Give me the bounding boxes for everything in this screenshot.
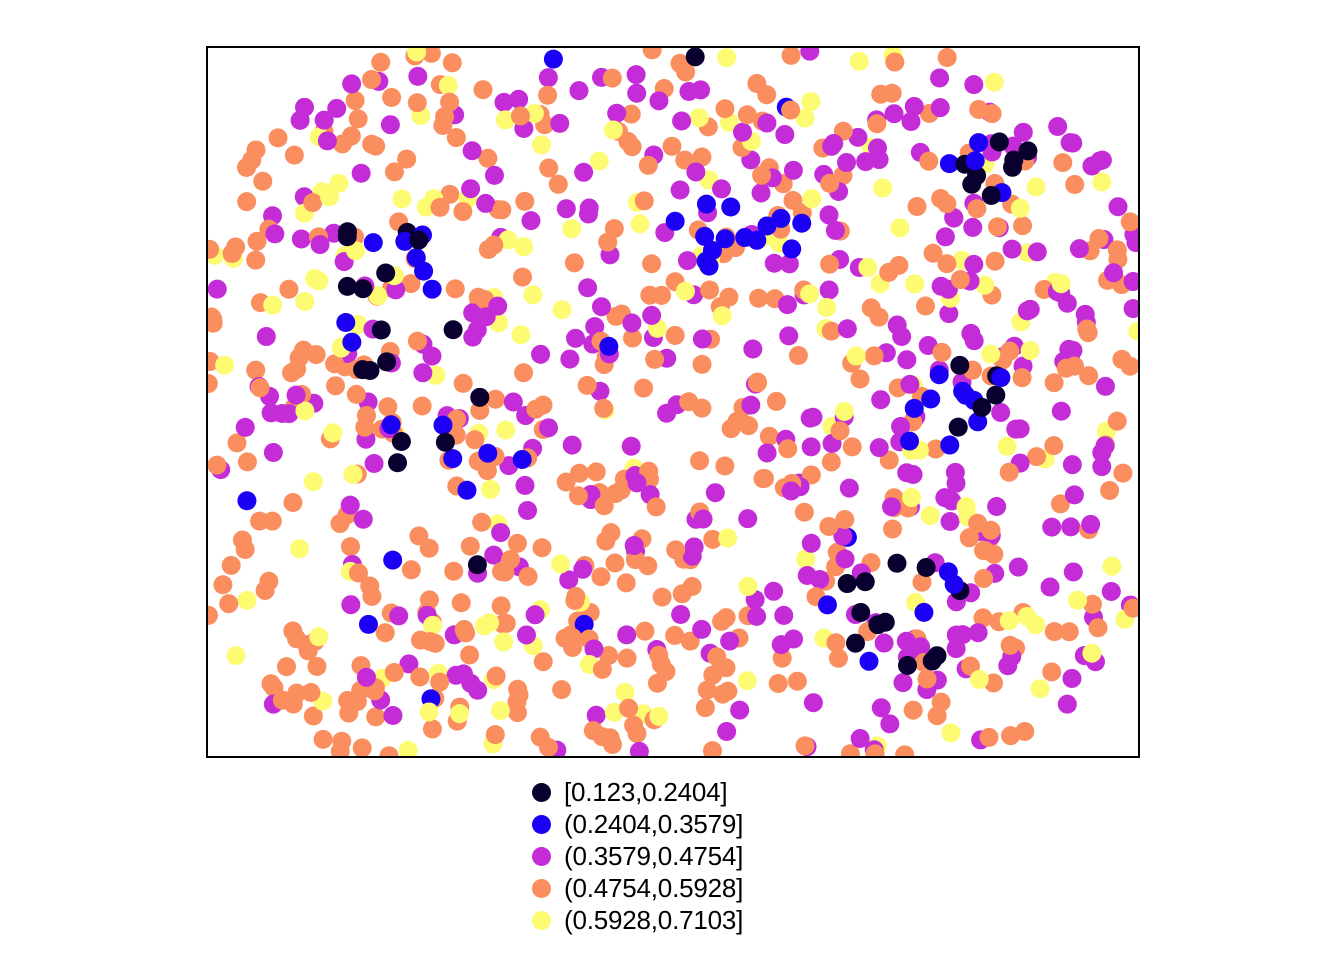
scatter-point	[818, 595, 837, 614]
scatter-point	[607, 104, 626, 123]
scatter-point	[721, 198, 740, 217]
scatter-point	[679, 392, 698, 411]
scatter-point	[918, 670, 937, 689]
legend-row[interactable]: (0.5928,0.7103]	[518, 904, 743, 936]
scatter-point	[617, 573, 636, 592]
scatter-point	[538, 86, 557, 105]
scatter-point	[692, 355, 711, 374]
scatter-point	[1089, 618, 1108, 637]
scatter-point	[484, 236, 503, 255]
scatter-point	[481, 480, 500, 499]
scatter-point	[829, 649, 848, 668]
scatter-point	[411, 631, 430, 650]
scatter-point	[357, 406, 376, 425]
scatter-point	[1068, 591, 1087, 610]
scatter-point	[348, 692, 367, 711]
scatter-point	[1065, 357, 1084, 376]
scatter-point	[423, 720, 442, 739]
scatter-point	[330, 514, 349, 533]
legend-swatch-bin-5	[518, 911, 564, 930]
scatter-point	[956, 386, 975, 405]
scatter-point	[642, 254, 661, 273]
scatter-point	[712, 179, 731, 198]
scatter-point	[947, 626, 966, 645]
scatter-point	[717, 48, 736, 67]
scatter-point	[919, 152, 938, 171]
scatter-point	[900, 432, 919, 451]
scatter-point	[904, 701, 923, 720]
scatter-point	[747, 607, 766, 626]
scatter-point	[388, 453, 407, 472]
scatter-point	[573, 560, 592, 579]
scatter-point	[988, 217, 1007, 236]
scatter-point	[1061, 133, 1080, 152]
scatter-point	[601, 728, 620, 747]
scatter-point	[846, 634, 865, 653]
legend-swatch-bin-4	[518, 879, 564, 898]
scatter-point	[974, 569, 993, 588]
scatter-point	[875, 634, 894, 653]
scatter-point	[380, 746, 399, 756]
scatter-point	[686, 162, 705, 181]
scatter-point	[362, 70, 381, 89]
plot-panel	[206, 46, 1140, 758]
scatter-point	[928, 646, 947, 665]
scatter-point	[457, 481, 476, 500]
scatter-point	[513, 268, 532, 287]
scatter-point	[531, 345, 550, 364]
scatter-point	[376, 623, 395, 642]
scatter-point	[985, 73, 1004, 92]
scatter-point	[468, 555, 487, 574]
scatter-point	[392, 432, 411, 451]
scatter-point	[795, 503, 814, 522]
scatter-point	[1064, 562, 1083, 581]
scatter-point	[630, 214, 649, 233]
scatter-point	[835, 402, 854, 421]
scatter-point	[665, 626, 684, 645]
scatter-point	[1045, 373, 1064, 392]
scatter-point	[843, 437, 862, 456]
scatter-point	[690, 108, 709, 127]
scatter-point	[354, 510, 373, 529]
scatter-point	[208, 374, 218, 393]
legend-swatch-bin-1	[518, 783, 564, 802]
scatter-point	[1027, 447, 1046, 466]
scatter-point	[700, 281, 719, 300]
scatter-point	[905, 274, 924, 293]
scatter-point	[323, 423, 342, 442]
scatter-point	[349, 109, 368, 128]
scatter-point	[453, 202, 472, 221]
scatter-point	[939, 562, 958, 581]
scatter-point	[213, 575, 232, 594]
scatter-point	[1062, 669, 1081, 688]
scatter-point	[566, 587, 585, 606]
scatter-point	[897, 350, 916, 369]
scatter-point	[1031, 679, 1050, 698]
scatter-point	[720, 632, 739, 651]
scatter-point	[284, 695, 303, 714]
scatter-point	[760, 427, 779, 446]
scatter-point	[1108, 412, 1127, 431]
scatter-point	[782, 48, 801, 65]
scatter-point	[512, 325, 531, 344]
scatter-point	[781, 101, 800, 120]
scatter-point	[697, 252, 716, 271]
scatter-point	[592, 297, 611, 316]
scatter-point	[792, 214, 811, 233]
scatter-point	[511, 106, 530, 125]
scatter-point	[1089, 229, 1108, 248]
scatter-point	[931, 98, 950, 117]
scatter-point	[757, 85, 776, 104]
scatter-point	[671, 181, 690, 200]
scatter-point	[552, 680, 571, 699]
scatter-point	[951, 270, 970, 289]
scatter-point	[941, 724, 960, 743]
scatter-point	[408, 67, 427, 86]
scatter-point	[413, 363, 432, 382]
scatter-point	[257, 327, 276, 346]
scatter-point	[868, 615, 887, 634]
scatter-point	[802, 189, 821, 208]
scatter-point	[851, 603, 870, 622]
circle-marker-icon	[532, 815, 551, 834]
scatter-point	[817, 298, 836, 317]
scatter-point	[1095, 436, 1114, 455]
scatter-point	[900, 375, 919, 394]
scatter-point	[838, 319, 857, 338]
scatter-point	[565, 253, 584, 272]
scatter-point	[237, 491, 256, 510]
scatter-point	[444, 562, 463, 581]
scatter-point	[962, 175, 981, 194]
scatter-point	[749, 289, 768, 308]
scatter-point	[666, 540, 685, 559]
scatter-point	[1059, 340, 1078, 359]
legend-swatch-bin-2	[518, 815, 564, 834]
scatter-point	[867, 114, 886, 133]
scatter-point	[595, 496, 614, 515]
scatter-point	[872, 698, 891, 717]
scatter-point	[242, 151, 261, 170]
scatter-point	[718, 528, 737, 547]
scatter-point	[590, 152, 609, 171]
scatter-point	[630, 742, 649, 756]
scatter-point	[539, 738, 558, 756]
scatter-point	[292, 230, 311, 249]
scatter-point	[1052, 402, 1071, 421]
scatter-point	[690, 451, 709, 470]
scatter-point	[223, 244, 242, 263]
scatter-point	[940, 436, 959, 455]
scatter-point	[539, 418, 558, 437]
scatter-point	[344, 465, 363, 484]
scatter-point	[706, 483, 725, 502]
scatter-point	[1042, 518, 1061, 537]
scatter-point	[730, 701, 749, 720]
scatter-point	[456, 624, 475, 643]
scatter-point	[420, 539, 439, 558]
scatter-point	[800, 48, 819, 61]
scatter-point	[237, 192, 256, 211]
scatter-point	[364, 233, 383, 252]
scatter-point	[928, 706, 947, 725]
scatter-point	[534, 652, 553, 671]
scatter-point	[616, 683, 635, 702]
scatter-point	[703, 741, 722, 756]
scatter-point	[930, 68, 949, 87]
scatter-point	[1018, 301, 1037, 320]
scatter-point	[1044, 436, 1063, 455]
scatter-point	[1124, 299, 1138, 318]
scatter-point	[290, 539, 309, 558]
scatter-point	[594, 399, 613, 418]
legend-row[interactable]: [0.123,0.2404]	[518, 776, 743, 808]
scatter-point	[917, 558, 936, 577]
scatter-point	[1102, 582, 1121, 601]
scatter-point	[693, 330, 712, 349]
scatter-point	[694, 510, 713, 529]
scatter-point	[672, 112, 691, 131]
scatter-point	[905, 399, 924, 418]
scatter-point	[778, 439, 797, 458]
scatter-point	[869, 308, 888, 327]
scatter-point	[627, 473, 646, 492]
scatter-point	[822, 322, 841, 341]
scatter-point	[769, 674, 788, 693]
scatter-point	[353, 360, 372, 379]
scatter-point	[222, 556, 241, 575]
scatter-point	[446, 279, 465, 298]
scatter-point	[208, 606, 218, 625]
scatter-point	[461, 537, 480, 556]
scatter-point	[279, 280, 298, 299]
scatter-point	[715, 456, 734, 475]
scatter-point	[738, 509, 757, 528]
scatter-point	[287, 386, 306, 405]
scatter-point	[342, 333, 361, 352]
scatter-point	[902, 488, 921, 507]
scatter-point	[251, 378, 270, 397]
scatter-point	[1102, 557, 1121, 576]
scatter-point	[383, 551, 402, 570]
scatter-point	[353, 738, 372, 756]
scatter-point	[1082, 157, 1101, 176]
scatter-point	[676, 282, 695, 301]
scatter-point	[871, 390, 890, 409]
scatter-point	[1001, 726, 1020, 745]
scatter-point	[673, 584, 692, 603]
scatter-point	[550, 114, 569, 133]
scatter-point	[1081, 515, 1100, 534]
scatter-point	[739, 416, 758, 435]
scatter-point	[549, 175, 568, 194]
scatter-point	[795, 736, 814, 755]
legend-swatch-bin-3	[518, 847, 564, 866]
scatter-point	[301, 683, 320, 702]
scatter-point	[885, 104, 904, 123]
scatter-point	[1042, 662, 1061, 681]
scatter-point	[346, 91, 365, 110]
scatter-point	[1079, 323, 1098, 342]
scatter-point	[1058, 695, 1077, 714]
scatter-point	[365, 454, 384, 473]
scatter-point	[303, 193, 322, 212]
scatter-point	[1000, 463, 1019, 482]
scatter-point	[718, 682, 737, 701]
scatter-point	[622, 314, 641, 333]
scatter-point	[468, 681, 487, 700]
scatter-point	[648, 674, 667, 693]
scatter-point	[888, 554, 907, 573]
scatter-point	[1003, 240, 1022, 259]
scatter-point	[967, 199, 986, 218]
scatter-point	[1061, 517, 1080, 536]
scatter-point	[435, 107, 454, 126]
scatter-point	[338, 222, 357, 241]
scatter-point	[957, 497, 976, 516]
scatter-point	[801, 92, 820, 111]
scatter-point	[513, 450, 532, 469]
scatter-point	[885, 53, 904, 72]
scatter-point	[991, 403, 1010, 422]
scatter-point	[488, 297, 507, 316]
scatter-point	[526, 605, 545, 624]
scatter-point	[666, 212, 685, 231]
scatter-point	[521, 211, 540, 230]
color-legend: [0.123,0.2404] (0.2404,0.3579] (0.3579,0…	[518, 776, 743, 936]
scatter-point	[643, 48, 662, 59]
scatter-point	[342, 74, 361, 93]
scatter-point	[904, 465, 923, 484]
scatter-point	[326, 376, 345, 395]
scatter-point	[208, 280, 227, 299]
scatter-point	[518, 501, 537, 520]
scatter-point	[713, 306, 732, 325]
scatter-point	[983, 104, 1002, 123]
scatter-point	[892, 327, 911, 346]
scatter-point	[743, 340, 762, 359]
scatter-point	[238, 452, 257, 471]
scatter-point	[444, 320, 463, 339]
scatter-point	[1092, 172, 1111, 191]
scatter-point	[515, 476, 534, 495]
scatter-point	[519, 567, 538, 586]
scatter-point	[936, 227, 955, 246]
scatter-point	[349, 563, 368, 582]
scatter-point	[653, 588, 672, 607]
scatter-point	[262, 403, 281, 422]
scatter-point	[789, 346, 808, 365]
legend-row[interactable]: (0.2404,0.3579]	[518, 808, 743, 840]
scatter-point	[649, 91, 668, 110]
scatter-point	[784, 161, 803, 180]
scatter-point	[366, 707, 385, 726]
scatter-point	[508, 534, 527, 553]
scatter-point	[908, 197, 927, 216]
scatter-point	[778, 295, 797, 314]
legend-label-bin-4: (0.4754,0.5928]	[564, 875, 743, 901]
legend-row[interactable]: (0.4754,0.5928]	[518, 872, 743, 904]
scatter-point	[285, 146, 304, 165]
scatter-point	[618, 649, 637, 668]
scatter-point	[562, 219, 581, 238]
scatter-point	[385, 663, 404, 682]
scatter-point	[491, 701, 510, 720]
scatter-point	[494, 93, 513, 112]
scatter-point	[532, 135, 551, 154]
scatter-point	[1100, 481, 1119, 500]
scatter-point	[377, 352, 396, 371]
scatter-point	[765, 254, 784, 273]
scatter-point	[454, 664, 473, 683]
scatter-point	[269, 128, 288, 147]
scatter-point	[873, 179, 892, 198]
scatter-point	[738, 577, 757, 596]
scatter-point	[514, 363, 533, 382]
scatter-point	[357, 668, 376, 687]
scatter-point	[378, 397, 397, 416]
scatter-plot-figure: [0.123,0.2404] (0.2404,0.3579] (0.3579,0…	[0, 0, 1344, 960]
scatter-point	[265, 224, 284, 243]
scatter-point	[1028, 242, 1047, 261]
scatter-point	[352, 164, 371, 183]
scatter-point	[1121, 212, 1138, 231]
scatter-point	[969, 623, 988, 642]
scatter-point	[703, 666, 722, 685]
scatter-point	[341, 537, 360, 556]
scatter-point	[914, 603, 933, 622]
scatter-point	[758, 443, 777, 462]
legend-row[interactable]: (0.3579,0.4754]	[518, 840, 743, 872]
scatter-point	[937, 194, 956, 213]
scatter-point	[733, 123, 752, 142]
scatter-point	[963, 218, 982, 237]
scatter-point	[472, 513, 491, 532]
scatter-point	[584, 721, 603, 740]
scatter-point	[921, 390, 940, 409]
scatter-point	[930, 365, 949, 384]
scatter-point	[327, 99, 346, 118]
scatter-point	[1009, 558, 1028, 577]
scatter-point	[551, 554, 570, 573]
scatter-point	[697, 195, 716, 214]
scatter-point	[858, 258, 877, 277]
scatter-point	[937, 254, 956, 273]
scatter-point	[463, 328, 482, 347]
scatter-point	[320, 187, 339, 206]
scatter-point	[1128, 322, 1138, 341]
scatter-point	[859, 652, 878, 671]
scatter-point	[463, 141, 482, 160]
scatter-point	[831, 421, 850, 440]
scatter-point	[596, 532, 615, 551]
scatter-point	[935, 488, 954, 507]
scatter-point	[622, 437, 641, 456]
scatter-point	[722, 419, 741, 438]
scatter-point	[236, 418, 255, 437]
scatter-point	[227, 646, 246, 665]
scatter-point	[341, 496, 360, 515]
scatter-point	[560, 350, 579, 369]
scatter-point	[605, 554, 624, 573]
scatter-point	[454, 374, 473, 393]
scatter-point	[757, 216, 776, 235]
scatter-point	[474, 80, 493, 99]
scatter-point	[625, 536, 644, 555]
